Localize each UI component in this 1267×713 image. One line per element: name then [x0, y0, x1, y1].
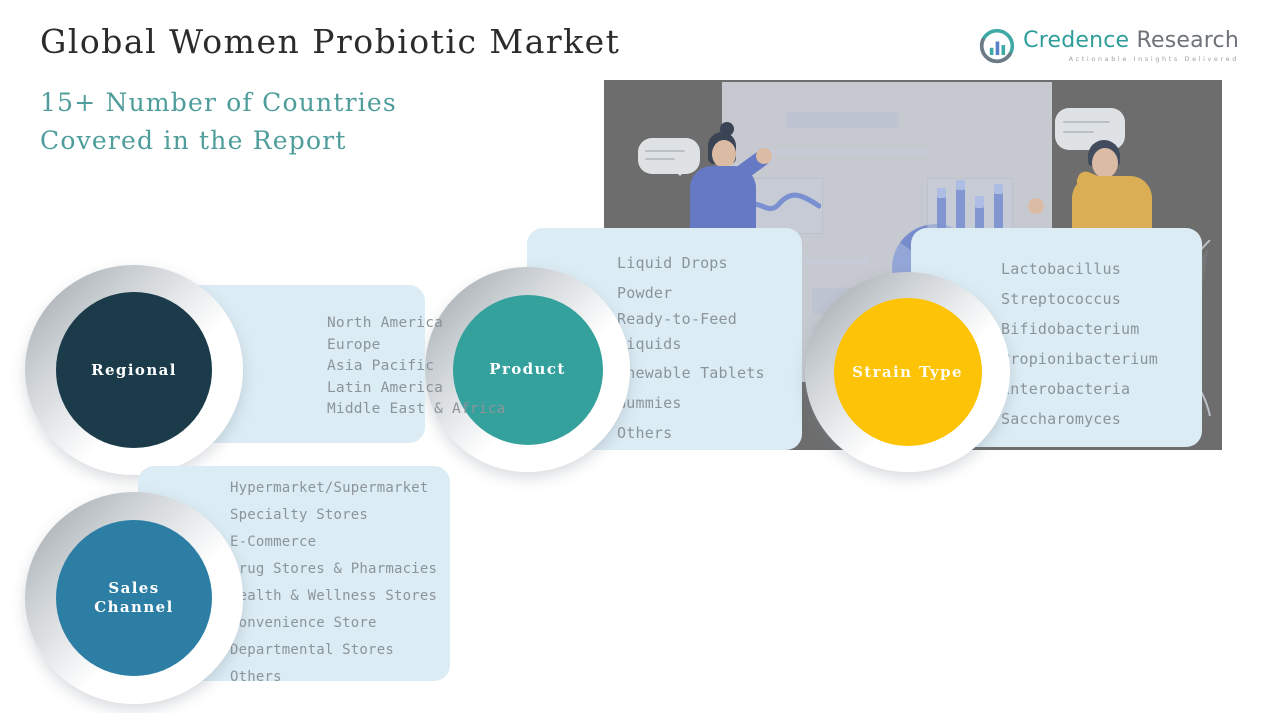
list-item: Specialty Stores	[230, 502, 437, 529]
list-item: Convenience Store	[230, 610, 437, 637]
list-item: Ready-to-Feed	[617, 308, 765, 330]
list-item: Saccharomyces	[1001, 404, 1158, 434]
regional-item-list: North America Europe Asia Pacific Latin …	[327, 313, 506, 421]
sales-channel-item-list: Hypermarket/Supermarket Specialty Stores…	[230, 475, 437, 691]
board-title-bar	[786, 112, 898, 128]
regional-bubble[interactable]: Regional	[25, 265, 243, 475]
bar-4-cap	[994, 184, 1003, 194]
list-item: Bifidobacterium	[1001, 314, 1158, 344]
subtitle-line-1: 15+ Number of Countries	[40, 84, 397, 122]
logo-tagline: Actionable Insights Delivered	[1023, 56, 1239, 63]
logo-text: Credence Research Actionable Insights De…	[1023, 30, 1239, 63]
regional-bubble-label: Regional	[56, 292, 212, 448]
list-item: Latin America	[327, 378, 506, 400]
infographic-canvas: Global Women Probiotic Market 15+ Number…	[0, 0, 1267, 713]
list-item: Hypermarket/Supermarket	[230, 475, 437, 502]
list-item: Asia Pacific	[327, 356, 506, 378]
bar-1-cap	[937, 188, 946, 198]
list-item: Enterobacteria	[1001, 374, 1158, 404]
logo-name-secondary: Research	[1136, 28, 1239, 53]
list-item: Lactobacillus	[1001, 254, 1158, 284]
bar-2	[956, 186, 965, 234]
logo-wordmark: Credence Research	[1023, 30, 1239, 52]
list-item: Liquids	[617, 330, 765, 358]
sales-channel-bubble-label: Sales Channel	[56, 520, 212, 676]
presenter-left-bun	[720, 122, 734, 136]
list-item: Europe	[327, 335, 506, 357]
board-line-1	[756, 150, 931, 154]
bar-2-cap	[956, 180, 965, 190]
list-item: Propionibacterium	[1001, 344, 1158, 374]
logo-name-primary: Credence	[1023, 28, 1129, 53]
list-item: Drug Stores & Pharmacies	[230, 556, 437, 583]
list-item: Health & Wellness Stores	[230, 583, 437, 610]
presenter-left-head	[712, 140, 736, 168]
product-item-list: Liquid Drops Powder Ready-to-Feed Liquid…	[617, 248, 765, 448]
list-item: E-Commerce	[230, 529, 437, 556]
list-item: Streptococcus	[1001, 284, 1158, 314]
list-item: Others	[617, 418, 765, 448]
presenter-left-hand	[756, 148, 772, 164]
page-title: Global Women Probiotic Market	[40, 22, 620, 61]
sales-channel-bubble[interactable]: Sales Channel	[25, 492, 243, 704]
list-item: Powder	[617, 278, 765, 308]
list-item: Liquid Drops	[617, 248, 765, 278]
list-item: Chewable Tablets	[617, 358, 765, 388]
list-item: Departmental Stores	[230, 637, 437, 664]
list-item: North America	[327, 313, 506, 335]
page-subtitle: 15+ Number of Countries Covered in the R…	[40, 84, 397, 160]
strain-type-bubble[interactable]: Strain Type	[805, 272, 1010, 472]
presenter-right-head	[1092, 148, 1118, 178]
brand-logo: Credence Research Actionable Insights De…	[979, 28, 1239, 64]
strain-type-item-list: Lactobacillus Streptococcus Bifidobacter…	[1001, 254, 1158, 434]
bar-3-cap	[975, 196, 984, 208]
list-item: Gummies	[617, 388, 765, 418]
credence-bar-chart-circle-icon	[979, 28, 1015, 64]
line-chart-icon	[745, 192, 821, 220]
list-item: Middle East & Africa	[327, 399, 506, 421]
speech-bubble-left	[638, 138, 700, 174]
list-item: Others	[230, 664, 437, 691]
subtitle-line-2: Covered in the Report	[40, 122, 397, 160]
presenter-right-hand	[1028, 198, 1044, 214]
strain-type-bubble-label: Strain Type	[834, 298, 982, 446]
sales-channel-label-line-2: Channel	[94, 598, 173, 617]
sales-channel-label-line-1: Sales	[94, 579, 173, 598]
